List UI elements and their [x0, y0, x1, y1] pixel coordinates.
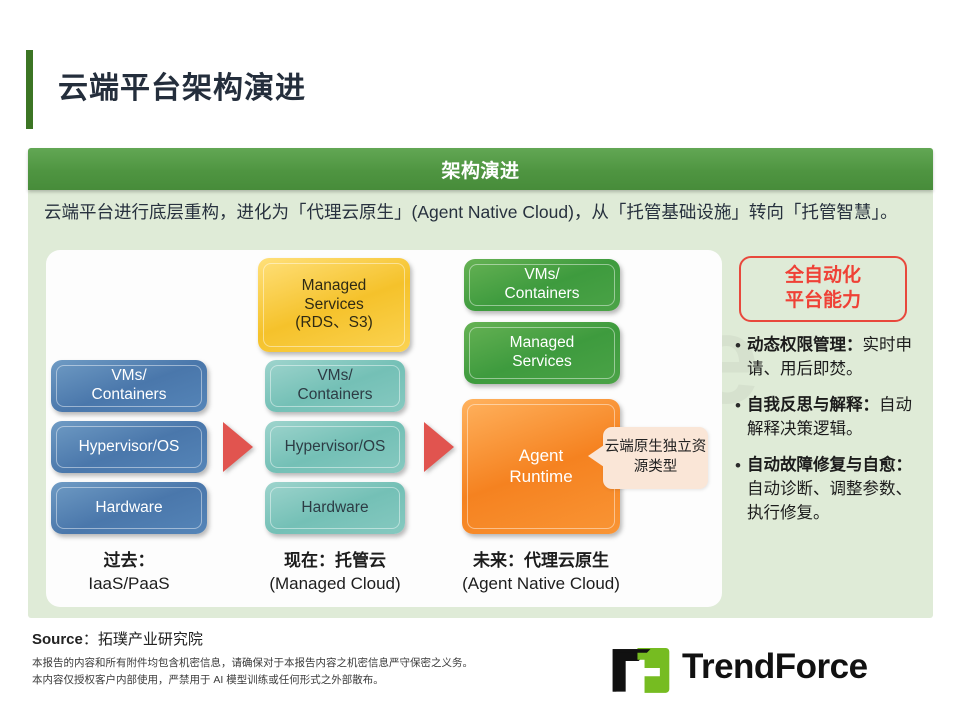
box-present-hardware-label: Hardware [295, 499, 374, 518]
box-future-vms-label: VMs/ Containers [499, 266, 586, 304]
box-past-vms-label: VMs/ Containers [86, 367, 173, 405]
capability-item-text: 自我反思与解释：自动解释决策逻辑。 [747, 394, 921, 442]
capability-item-bold: 自动故障修复与自愈： [747, 456, 912, 474]
caption-present-line2: (Managed Cloud) [240, 572, 430, 595]
caption-future: 未来：代理云原生 (Agent Native Cloud) [435, 549, 647, 596]
capability-badge-line1: 全自动化 [785, 264, 861, 289]
caption-future-line1: 未来：代理云原生 [435, 549, 647, 572]
panel-description: 云端平台进行底层重构，进化为「代理云原生」(Agent Native Cloud… [44, 198, 919, 226]
capability-item: • 动态权限管理：实时申请、用后即焚。 [735, 334, 921, 382]
callout-agent-runtime: 云端原生独立资源类型 [603, 427, 708, 489]
source-label: Source [32, 631, 83, 648]
caption-past: 过去： IaaS/PaaS [51, 549, 207, 596]
trendforce-logo: TrendForce [610, 648, 930, 694]
box-past-hardware: Hardware [51, 482, 207, 534]
caption-future-line2: (Agent Native Cloud) [435, 572, 647, 595]
box-future-agent-runtime-label: Agent Runtime [503, 446, 578, 487]
callout-text: 云端原生独立资源类型 [603, 438, 708, 477]
slide-root: 云端平台架构演进 架构演进 云端平台进行底层重构，进化为「代理云原生」(Agen… [0, 0, 960, 720]
box-present-hardware: Hardware [265, 482, 405, 534]
capability-badge-line2: 平台能力 [785, 289, 861, 314]
source-value: ：拓璞产业研究院 [83, 631, 203, 648]
box-present-hypervisor-label: Hypervisor/OS [279, 438, 392, 457]
source-line: Source：拓璞产业研究院 [32, 628, 203, 649]
box-future-managed-services: Managed Services [464, 322, 620, 384]
page-title: 云端平台架构演进 [58, 63, 306, 107]
bullet-dot-icon: • [735, 334, 741, 382]
box-past-hypervisor: Hypervisor/OS [51, 421, 207, 473]
capability-list: • 动态权限管理：实时申请、用后即焚。 • 自我反思与解释：自动解释决策逻辑。 … [735, 334, 921, 537]
caption-past-line1: 过去： [51, 549, 207, 572]
capability-item-bold: 自我反思与解释： [747, 396, 879, 414]
capability-item-bold: 动态权限管理： [747, 336, 863, 354]
box-future-vms: VMs/ Containers [464, 259, 620, 311]
arrow-present-to-future-icon [424, 422, 454, 472]
arrow-past-to-present-icon [223, 422, 253, 472]
box-present-hypervisor: Hypervisor/OS [265, 421, 405, 473]
box-past-hardware-label: Hardware [89, 499, 168, 518]
trendforce-logo-icon [610, 648, 672, 694]
disclaimer-line-2: 本内容仅授权客户内部使用，严禁用于 AI 模型训练或任何形式之外部散布。 [32, 672, 473, 689]
caption-past-line2: IaaS/PaaS [51, 572, 207, 595]
bullet-dot-icon: • [735, 454, 741, 526]
capability-item: • 自我反思与解释：自动解释决策逻辑。 [735, 394, 921, 442]
caption-present: 现在：托管云 (Managed Cloud) [240, 549, 430, 596]
capability-item-text: 自动故障修复与自愈：自动诊断、调整参数、执行修复。 [747, 454, 921, 526]
capability-item-rest: 自动诊断、调整参数、执行修复。 [747, 480, 912, 522]
bullet-dot-icon: • [735, 394, 741, 442]
disclaimer-line-1: 本报告的内容和所有附件均包含机密信息，请确保对于本报告内容之机密信息严守保密之义… [32, 655, 473, 672]
box-past-vms: VMs/ Containers [51, 360, 207, 412]
box-past-hypervisor-label: Hypervisor/OS [73, 438, 186, 457]
box-future-managed-services-label: Managed Services [504, 334, 581, 372]
disclaimer: 本报告的内容和所有附件均包含机密信息，请确保对于本报告内容之机密信息严守保密之义… [32, 655, 473, 689]
capability-badge: 全自动化 平台能力 [739, 256, 907, 322]
caption-present-line1: 现在：托管云 [240, 549, 430, 572]
panel-header: 架构演进 [28, 148, 933, 190]
box-present-vms-label: VMs/ Containers [292, 367, 379, 405]
box-present-vms: VMs/ Containers [265, 360, 405, 412]
capability-item: • 自动故障修复与自愈：自动诊断、调整参数、执行修复。 [735, 454, 921, 526]
panel-header-label: 架构演进 [441, 156, 519, 183]
trendforce-logo-text: TrendForce [682, 647, 868, 687]
capability-item-text: 动态权限管理：实时申请、用后即焚。 [747, 334, 921, 382]
box-present-managed-services: Managed Services (RDS、S3) [258, 258, 410, 352]
box-present-managed-services-label: Managed Services (RDS、S3) [289, 277, 379, 334]
title-accent-bar [26, 50, 33, 129]
